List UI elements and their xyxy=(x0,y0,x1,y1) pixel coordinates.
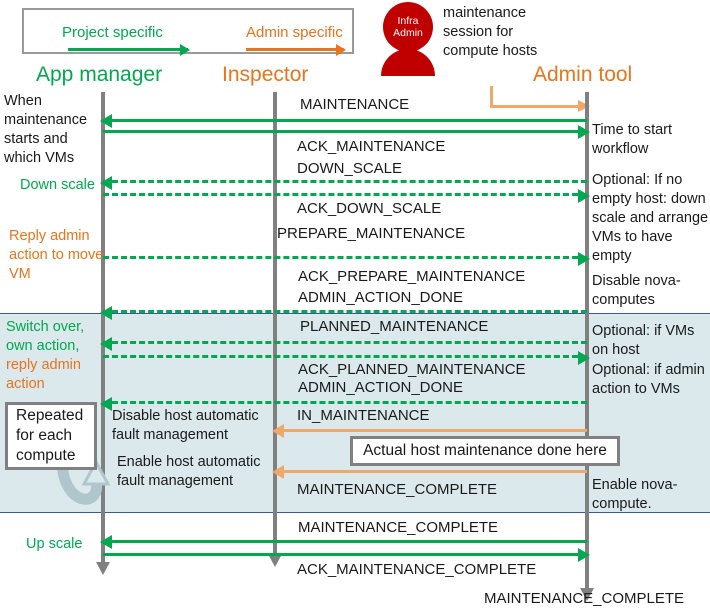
message-arrow-ack-maintenance xyxy=(103,130,587,133)
sequence-diagram: Project specific Admin specific Infra Ad… xyxy=(0,0,710,613)
message-label-prepare-maintenance: PREPARE_MAINTENANCE xyxy=(277,225,465,242)
note-optional-admin-action: Optional: if admin action to VMs xyxy=(592,361,708,399)
message-label-admin-action-done-2: ADMIN_ACTION_DONE xyxy=(298,379,463,396)
note-down-scale: Down scale xyxy=(20,176,110,195)
avatar-line2: Admin xyxy=(393,27,423,39)
note-optional-vms-on-host: Optional: if VMs on host xyxy=(592,322,708,360)
message-arrow-maintenance xyxy=(103,119,587,122)
note-disable-fault-management: Disable host automatic fault management xyxy=(112,407,280,445)
legend-admin-label: Admin specific xyxy=(246,24,343,41)
message-label-down-scale: DOWN_SCALE xyxy=(297,160,402,177)
note-when-maintenance: When maintenance starts and which VMs xyxy=(4,92,100,168)
message-arrow-planned-maintenance xyxy=(103,341,587,344)
note-optional-empty-host: Optional: If no empty host: down scale a… xyxy=(592,171,710,266)
message-arrow-admin-action-done-2 xyxy=(103,401,587,404)
note-disable-nova-computes: Disable nova-computes xyxy=(592,272,702,310)
avatar-caption: maintenance session for compute hosts xyxy=(443,4,563,61)
lifeline-app-manager-arrowhead-icon xyxy=(96,562,110,575)
note-enable-nova-compute: Enable nova-compute. xyxy=(592,476,702,514)
message-arrow-prepare-maintenance xyxy=(103,256,587,259)
avatar-head-icon: Infra Admin xyxy=(383,2,433,52)
message-arrow-maintenance-complete-orange xyxy=(275,470,587,473)
legend-project-label: Project specific xyxy=(62,24,163,41)
callout-repeated-for-each-compute: Repeated for each compute xyxy=(5,402,97,470)
legend-box: Project specific Admin specific xyxy=(22,8,354,54)
note-reply-admin-action-2: reply admin action xyxy=(6,356,101,394)
message-arrow-ack-down-scale xyxy=(103,193,587,196)
callout-actual-host-maintenance: Actual host maintenance done here xyxy=(350,436,620,466)
message-label-admin-action-done-1: ADMIN_ACTION_DONE xyxy=(298,289,463,306)
note-up-scale: Up scale xyxy=(26,535,106,554)
note-switch-over: Switch over, own action, xyxy=(6,318,101,356)
message-arrow-ack-maintenance-complete xyxy=(103,553,587,556)
message-label-ack-down-scale: ACK_DOWN_SCALE xyxy=(297,200,441,217)
message-label-maintenance-complete-final: MAINTENANCE_COMPLETE xyxy=(484,590,684,607)
message-arrow-ack-planned-maintenance xyxy=(103,355,587,358)
message-label-ack-planned-maintenance: ACK_PLANNED_MAINTENANCE xyxy=(298,361,526,378)
avatar-body-icon xyxy=(381,49,435,76)
legend-project-arrow-icon xyxy=(68,48,188,51)
message-arrow-down-scale xyxy=(103,180,587,183)
message-arrow-in-maintenance xyxy=(275,429,587,432)
message-arrow-ack-prepare-maintenance xyxy=(103,310,587,313)
admin-to-admin-tool-arrow-icon xyxy=(490,86,590,108)
avatar-line1: Infra xyxy=(397,15,418,27)
message-label-ack-maintenance: ACK_MAINTENANCE xyxy=(297,138,445,155)
legend-admin-arrow-icon xyxy=(246,48,344,51)
note-reply-admin-action: Reply admin action to move VM xyxy=(9,227,104,284)
message-label-maintenance: MAINTENANCE xyxy=(300,96,409,113)
message-label-maintenance-complete-orange: MAINTENANCE_COMPLETE xyxy=(297,481,497,498)
infra-admin-avatar: Infra Admin xyxy=(375,2,441,72)
actor-admin-tool-label: Admin tool xyxy=(533,63,632,87)
actor-app-manager-label: App manager xyxy=(36,63,162,87)
message-label-ack-prepare-maintenance: ACK_PREPARE_MAINTENANCE xyxy=(298,268,525,285)
note-enable-fault-management: Enable host automatic fault management xyxy=(117,453,285,491)
note-time-to-start-workflow: Time to start workflow xyxy=(592,121,704,159)
actor-inspector-label: Inspector xyxy=(222,63,308,87)
message-label-ack-maintenance-complete: ACK_MAINTENANCE_COMPLETE xyxy=(297,561,536,578)
message-label-maintenance-complete-green: MAINTENANCE_COMPLETE xyxy=(298,519,498,536)
message-arrow-maintenance-complete-green xyxy=(103,540,587,543)
message-label-planned-maintenance: PLANNED_MAINTENANCE xyxy=(300,318,488,335)
message-label-in-maintenance: IN_MAINTENANCE xyxy=(297,407,430,424)
